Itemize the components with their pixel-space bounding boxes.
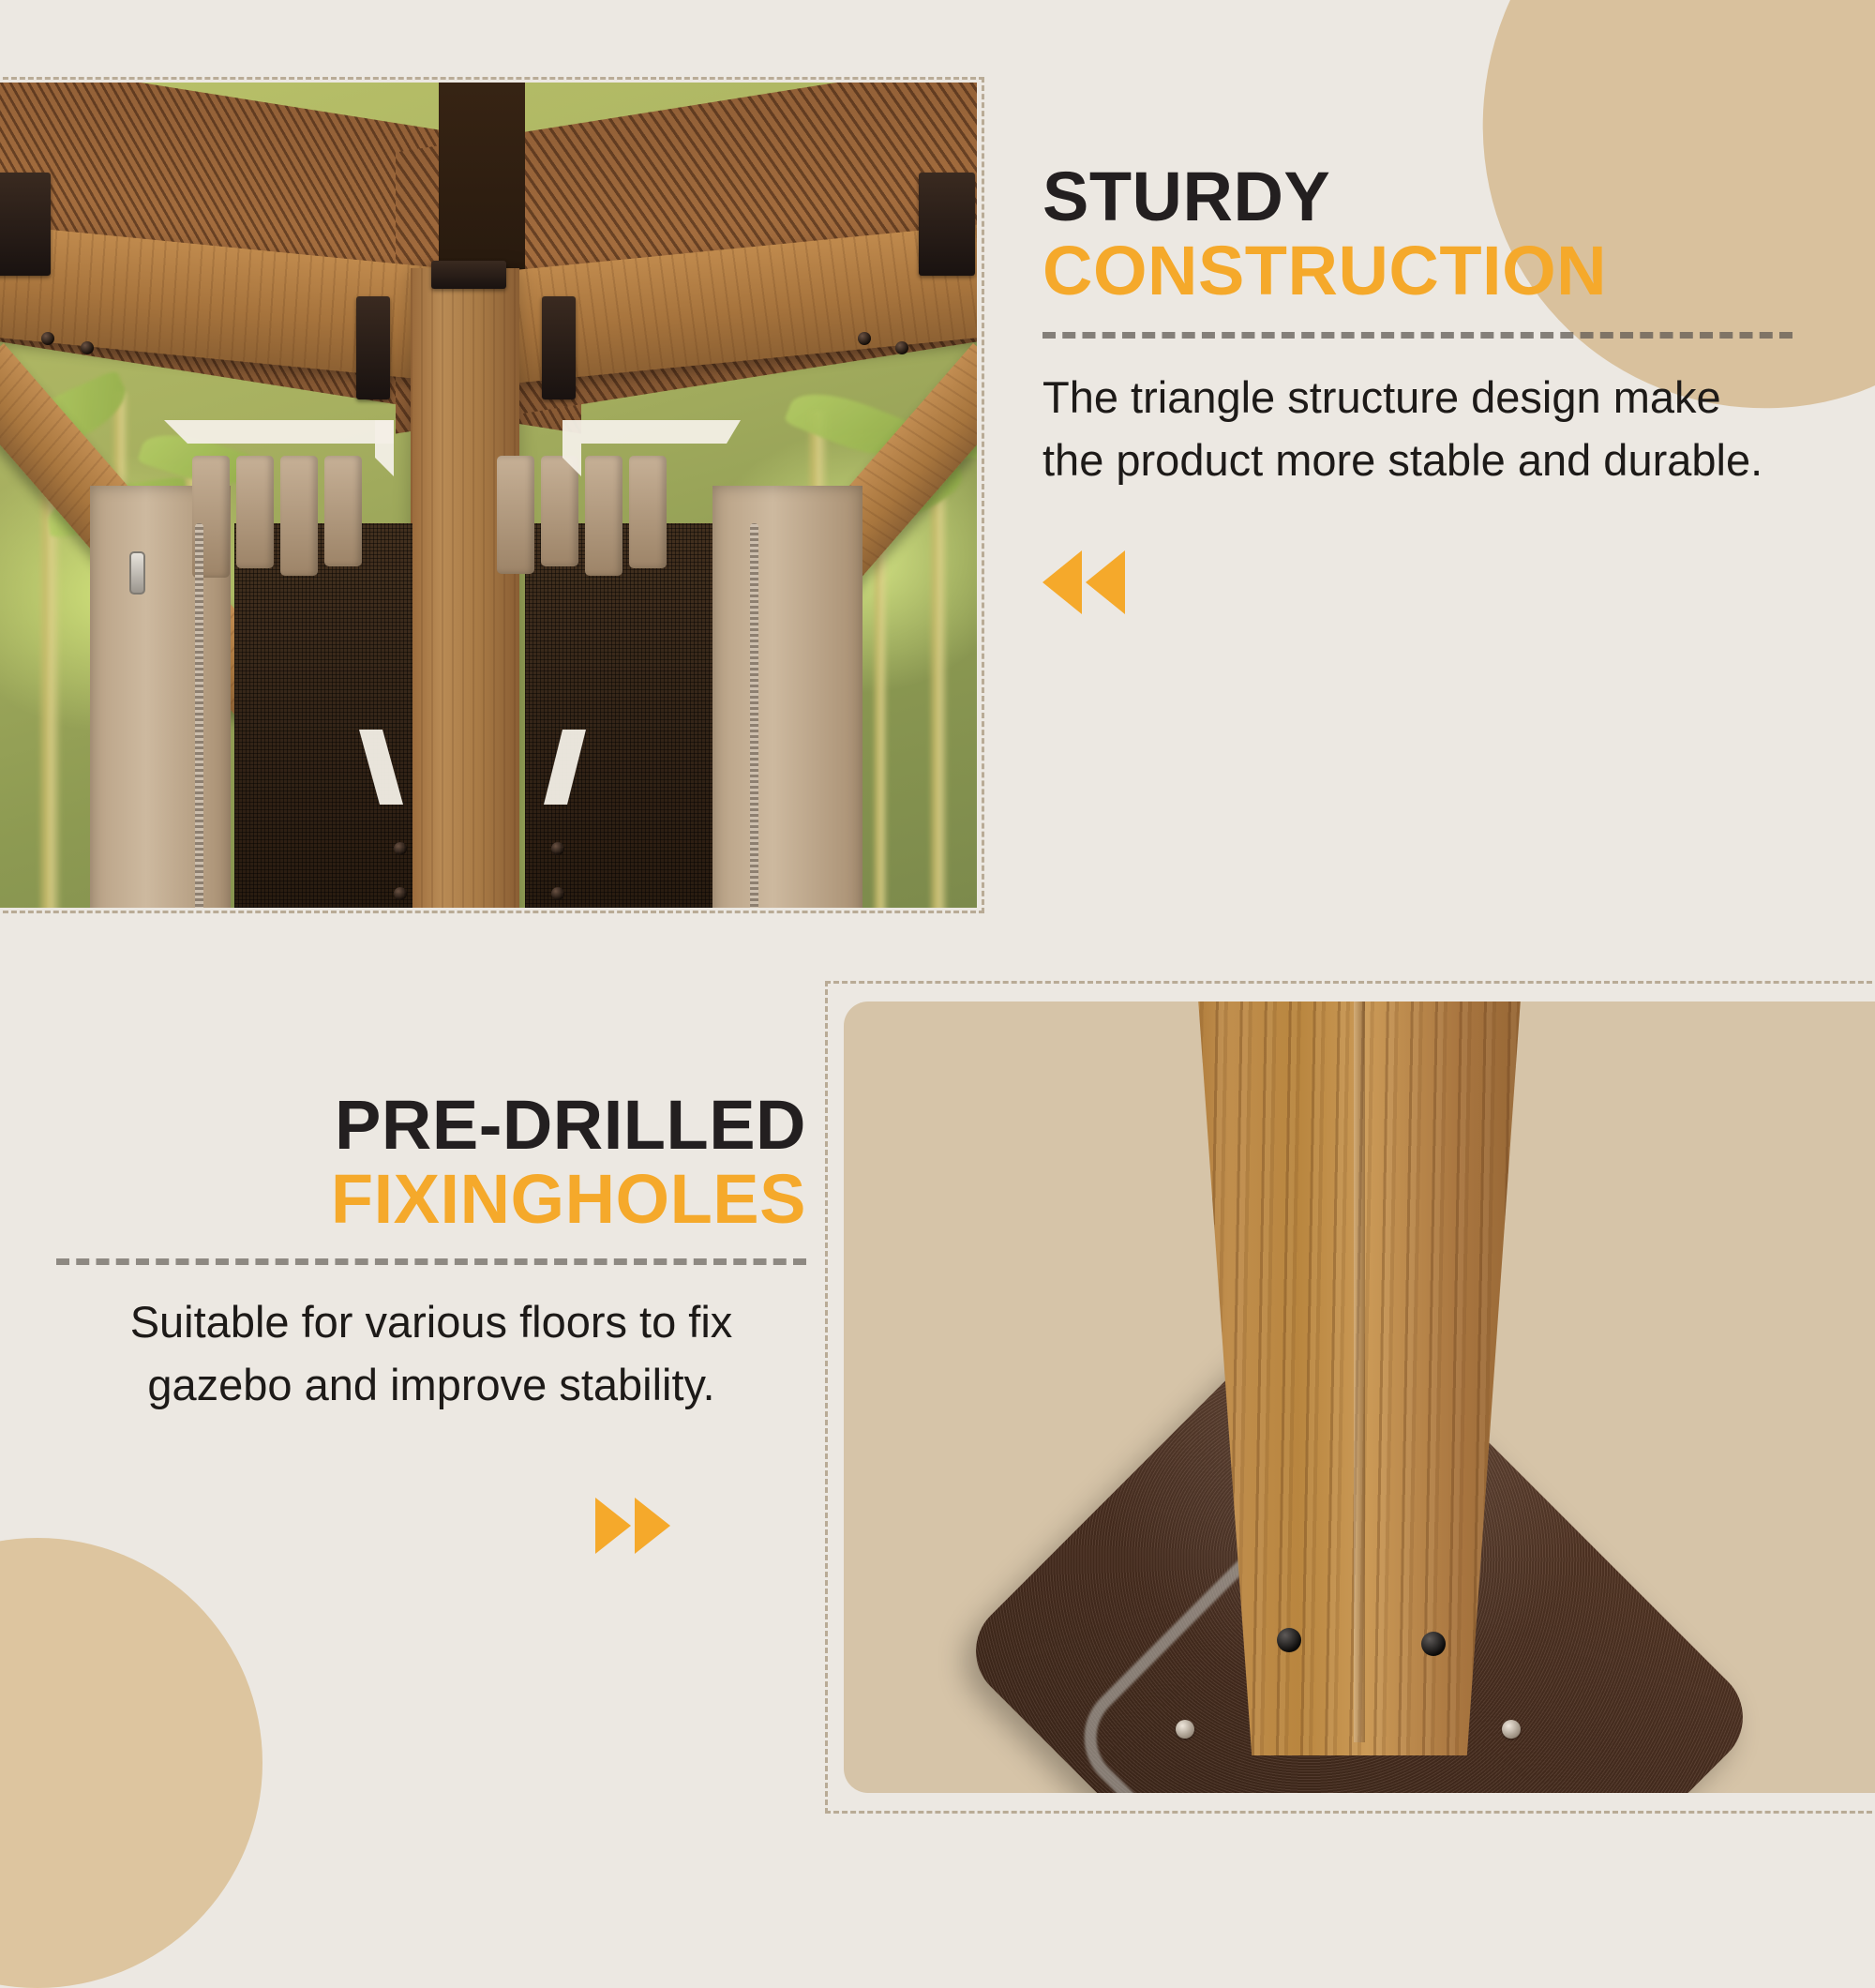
- rewind-double-left-arrow-icon: [1042, 550, 1792, 614]
- sturdy-heading-line2: CONSTRUCTION: [1042, 233, 1792, 308]
- sturdy-body-text: The triangle structure design make the p…: [1042, 367, 1792, 491]
- hinge-bracket-corner-left: [0, 173, 51, 276]
- fixing-bolt-left: [1277, 1628, 1301, 1652]
- hinge-bracket-corner-right: [919, 173, 975, 276]
- pre-drilled-fixing-holes-section: PRE-DRILLED FIXINGHOLES Suitable for var…: [56, 1088, 806, 1554]
- holes-heading-line1: PRE-DRILLED: [56, 1088, 806, 1162]
- pre-drilled-hole-right: [1502, 1720, 1521, 1739]
- fixing-bolt-right: [1421, 1632, 1446, 1656]
- post-base-photo-panel: [825, 981, 1875, 1814]
- hinge-bracket-right: [542, 296, 576, 399]
- pre-drilled-hole-left: [1176, 1720, 1194, 1739]
- holes-heading-line2: FIXINGHOLES: [56, 1162, 806, 1236]
- hinge-bracket-top-center: [431, 261, 506, 289]
- holes-divider: [56, 1258, 806, 1265]
- post-corner-edge: [1354, 1002, 1365, 1742]
- hinge-bracket-left: [356, 296, 390, 399]
- fast-forward-double-right-arrow-icon: [56, 1498, 806, 1554]
- gazebo-corner-photo: [0, 83, 977, 908]
- holes-body-text: Suitable for various floors to fix gazeb…: [56, 1291, 806, 1416]
- sturdy-construction-section: STURDY CONSTRUCTION The triangle structu…: [1042, 159, 1792, 614]
- post-base-photo: [844, 1002, 1875, 1793]
- sturdy-divider: [1042, 332, 1792, 339]
- sturdy-heading-line1: STURDY: [1042, 159, 1792, 233]
- white-accent-outlines: [0, 83, 977, 908]
- bottom-left-circle-decoration: [0, 1538, 262, 1988]
